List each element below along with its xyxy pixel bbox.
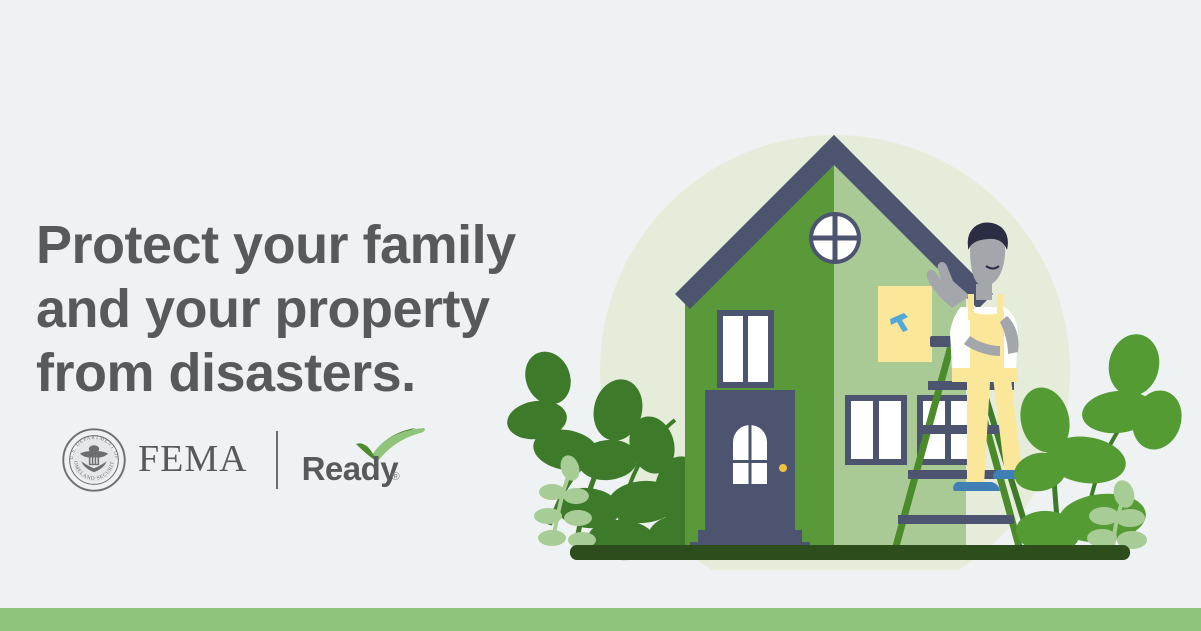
house-repair-illustration (500, 120, 1201, 570)
step-upper (698, 530, 802, 542)
fema-wordmark: FEMA (138, 440, 248, 480)
attic-window (809, 212, 861, 264)
shoe-left (953, 482, 1000, 491)
registered-trademark-icon: ® (392, 472, 400, 483)
window-upper-left (717, 310, 774, 388)
front-door[interactable] (705, 390, 795, 530)
banner-root: Protect your family and your property fr… (0, 0, 1201, 631)
ground-line (570, 545, 1130, 560)
plywood-board (878, 286, 932, 362)
ready-logo: Ready ® (302, 428, 432, 492)
doorknob-icon (779, 464, 787, 472)
page-title: Protect your family and your property fr… (36, 213, 556, 405)
bottom-accent-bar (0, 608, 1201, 631)
fema-ready-logo-lockup[interactable]: U.S. DEPARTMENT OF HOMELAND SECURITY FEM… (62, 423, 432, 497)
dhs-seal-icon: U.S. DEPARTMENT OF HOMELAND SECURITY (62, 428, 126, 492)
logo-divider (276, 431, 278, 489)
window-lower-right-a (845, 395, 907, 465)
copy-block: Protect your family and your property fr… (36, 213, 556, 405)
ready-wordmark: Ready (302, 452, 399, 485)
